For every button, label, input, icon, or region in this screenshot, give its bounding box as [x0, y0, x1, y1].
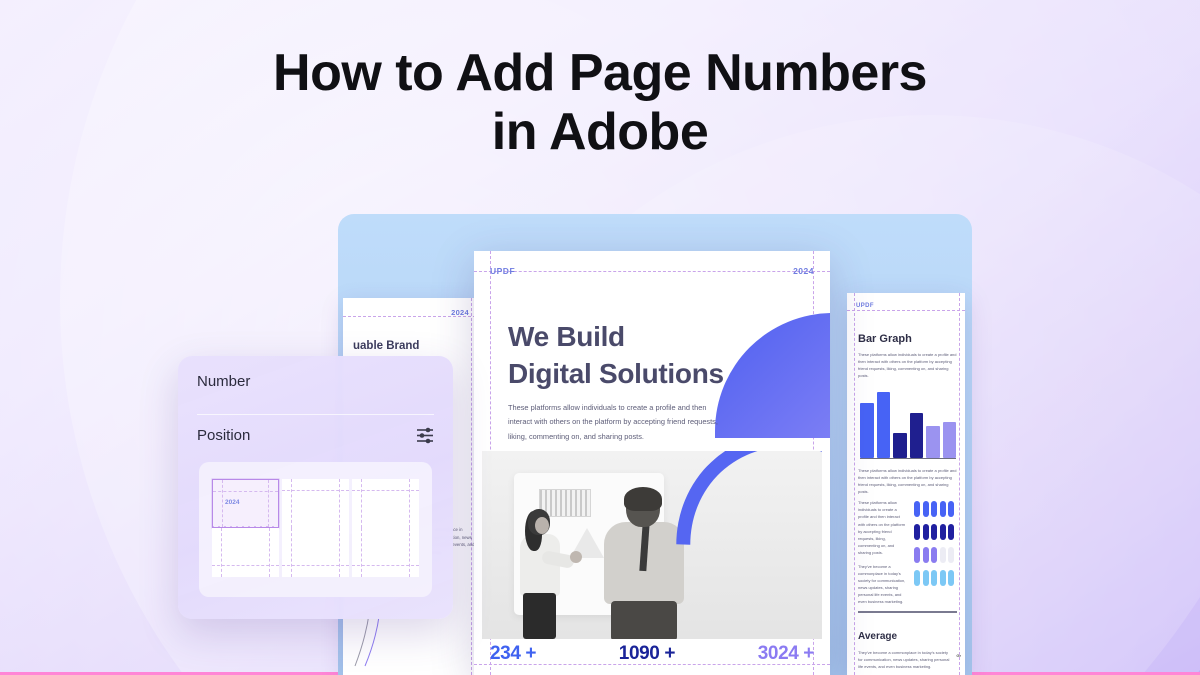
bar-6 [943, 422, 957, 458]
page-number-panel[interactable]: Number Position 2024 [178, 356, 453, 619]
document-main-photo [482, 451, 822, 639]
position-cell-top-left[interactable]: 2024 [212, 479, 279, 528]
page-title-line-1: How to Add Page Numbers [273, 44, 927, 102]
rating-paragraph-1: These platforms allow individuals to cre… [858, 499, 908, 557]
position-grid-container: 2024 [199, 462, 432, 597]
document-main[interactable]: UPDF 2024 We Build Digital Solutions The… [474, 251, 830, 675]
document-main-updf-label: UPDF [490, 266, 515, 276]
bar-graph-description: These platforms allow individuals to cre… [858, 351, 959, 379]
average-description: They've become a commonplace in today's … [858, 649, 953, 670]
bar-2 [877, 392, 891, 458]
document-main-title-line-2: Digital Solutions [508, 355, 724, 392]
document-main-title: We Build Digital Solutions [508, 318, 724, 392]
position-cell-bottom-center[interactable] [282, 528, 349, 577]
decorative-quarter-circle [715, 313, 830, 438]
sliders-icon[interactable] [416, 427, 434, 444]
panel-divider [197, 414, 434, 415]
photo-person-woman [518, 509, 566, 639]
rating-paragraph-2: They've become a commonplace in today's … [858, 563, 908, 606]
bar-graph-footnote: These platforms allow individuals to cre… [858, 467, 959, 495]
photo-person-man [604, 489, 686, 639]
position-cell-bottom-left[interactable] [212, 528, 279, 577]
bar-chart [860, 381, 956, 459]
position-cell-top-center[interactable] [282, 479, 349, 528]
panel-number-label: Number [197, 373, 250, 390]
panel-position-label: Position [197, 427, 250, 444]
corner-mark: Gr [956, 653, 961, 658]
position-grid[interactable]: 2024 [212, 479, 419, 577]
guide-vertical-right [471, 298, 472, 675]
stat-2: 1090 + [619, 643, 675, 665]
stat-3: 3024 + [758, 643, 814, 665]
document-right[interactable]: UPDF Bar Graph These platforms allow ind… [847, 293, 965, 675]
document-main-stats: 234 + 1090 + 3024 + [490, 643, 814, 665]
rating-pills [914, 499, 959, 612]
pill-row-navy [914, 524, 959, 540]
bar-3 [893, 433, 907, 458]
average-heading: Average [858, 631, 897, 642]
rating-section: These platforms allow individuals to cre… [858, 499, 959, 612]
document-main-page-number: 2024 [793, 266, 814, 276]
page-title-line-2: in Adobe [0, 103, 1200, 162]
bar-4 [910, 413, 924, 458]
document-main-header: UPDF 2024 [490, 266, 814, 276]
page-title: How to Add Page Numbers in Adobe [0, 44, 1200, 162]
pill-row-blue [914, 501, 959, 517]
guide-vertical-left [854, 293, 855, 675]
document-left-page-number: 2024 [451, 308, 469, 317]
pill-row-violet [914, 547, 959, 563]
document-right-updf-label: UPDF [856, 303, 874, 309]
section-divider [858, 611, 957, 613]
pill-row-sky [914, 570, 959, 586]
guide-horizontal-top [847, 310, 965, 311]
rating-section-text: These platforms allow individuals to cre… [858, 499, 908, 612]
document-main-title-line-1: We Build [508, 318, 724, 355]
position-cell-bottom-right[interactable] [352, 528, 419, 577]
position-cell-top-right[interactable] [352, 479, 419, 528]
guide-vertical-right [959, 293, 960, 675]
bar-graph-heading: Bar Graph [858, 333, 912, 345]
stat-1: 234 + [490, 643, 536, 665]
position-cell-value: 2024 [225, 499, 239, 506]
bar-5 [926, 426, 940, 458]
bar-1 [860, 403, 874, 458]
document-main-paragraph: These platforms allow individuals to cre… [508, 401, 726, 444]
document-left-heading: uable Brand [353, 340, 419, 352]
